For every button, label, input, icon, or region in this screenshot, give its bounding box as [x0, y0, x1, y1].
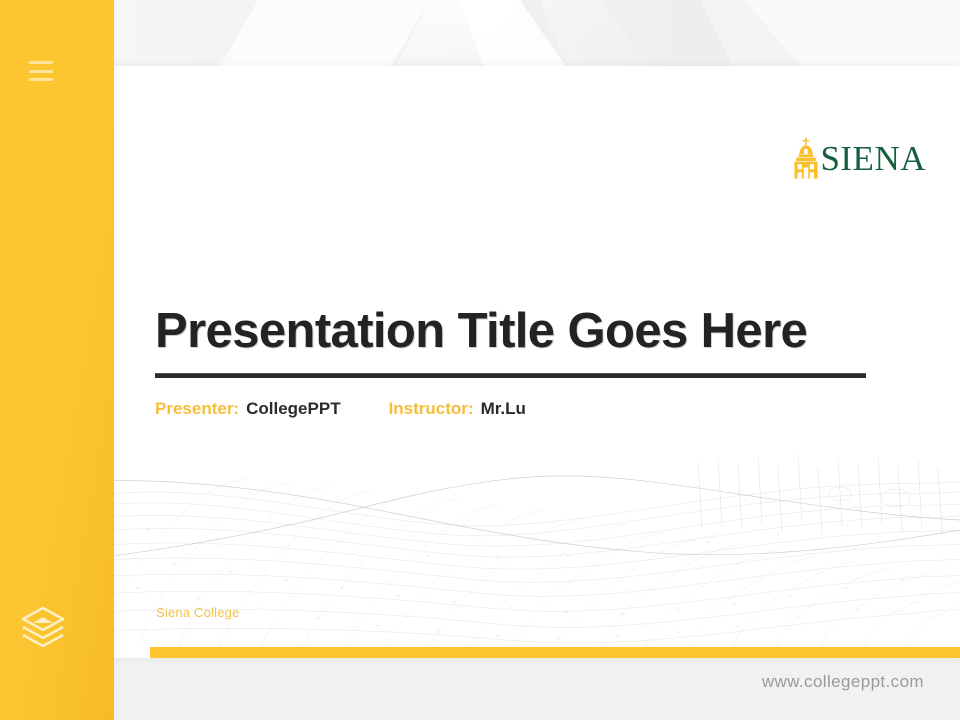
- slide-meta-row: Presenter: CollegePPT Instructor: Mr.Lu: [155, 399, 867, 419]
- layers-stack-icon[interactable]: [20, 604, 66, 648]
- slide-footer-organization: Siena College: [156, 605, 240, 620]
- hamburger-line: [29, 61, 53, 64]
- instructor-label: Instructor:: [389, 399, 474, 419]
- siena-dome-icon: [793, 137, 819, 179]
- hamburger-menu-icon[interactable]: [29, 61, 53, 81]
- presenter-value: CollegePPT: [246, 399, 340, 419]
- presenter-label: Presenter:: [155, 399, 239, 419]
- siena-wordmark: SIENA: [820, 141, 926, 176]
- slide-title-block: Presentation Title Goes Here Presenter: …: [155, 306, 867, 419]
- left-sidebar-rail: [0, 0, 114, 720]
- title-divider: [155, 373, 866, 378]
- hamburger-line: [29, 70, 53, 73]
- slide-canvas[interactable]: SIENA Presentation Title Goes Here Prese…: [78, 66, 960, 658]
- hamburger-line: [29, 78, 53, 81]
- instructor-value: Mr.Lu: [481, 399, 526, 419]
- website-url: www.collegeppt.com: [762, 672, 924, 692]
- siena-college-logo: SIENA: [793, 136, 926, 180]
- page-title: Presentation Title Goes Here: [155, 306, 867, 357]
- slide-accent-bar: [150, 647, 960, 658]
- presentation-slide-viewer: SIENA Presentation Title Goes Here Prese…: [0, 0, 960, 720]
